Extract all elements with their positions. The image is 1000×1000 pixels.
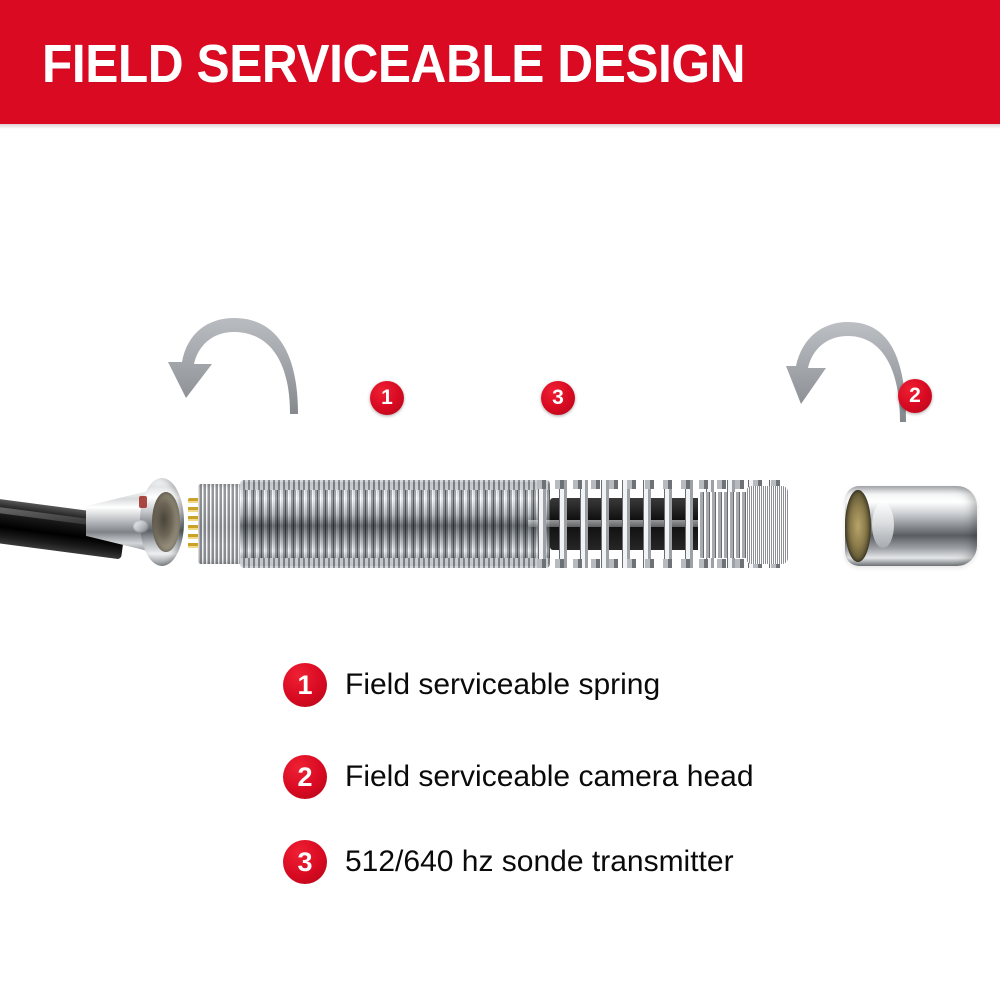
camera-head-lens bbox=[872, 502, 894, 548]
spring-knurled-nut bbox=[746, 486, 788, 564]
spring-connector bbox=[198, 484, 242, 564]
spring-coil-top-edge bbox=[240, 480, 550, 490]
photo-badge-2: 2 bbox=[898, 379, 932, 413]
legend: 1 Field serviceable spring 2 Field servi… bbox=[0, 634, 1000, 934]
legend-label-2: Field serviceable camera head bbox=[345, 760, 754, 794]
cable-alignment-mark bbox=[139, 496, 147, 508]
legend-badge-2: 2 bbox=[283, 755, 327, 799]
assembly-arrow-right-icon bbox=[786, 322, 906, 432]
photo-badge-1: 1 bbox=[370, 381, 404, 415]
cable-set-screw bbox=[133, 520, 149, 533]
legend-item-1: 1 Field serviceable spring bbox=[283, 663, 660, 707]
spring-open-coil-bottom bbox=[528, 559, 783, 568]
legend-badge-1: 1 bbox=[283, 663, 327, 707]
product-illustration: 1 3 2 bbox=[0, 124, 1000, 634]
page-title: FIELD SERVICEABLE DESIGN bbox=[42, 36, 745, 92]
spring-tight-coil bbox=[240, 482, 550, 566]
spring-open-coil-top bbox=[528, 480, 783, 489]
camera-head-contacts bbox=[845, 490, 871, 562]
photo-badge-3: 3 bbox=[541, 381, 575, 415]
legend-badge-3: 3 bbox=[283, 840, 327, 884]
spring-coil-bottom-edge bbox=[240, 558, 550, 568]
legend-label-3: 512/640 hz sonde transmitter bbox=[345, 845, 734, 879]
spring-threads bbox=[698, 492, 750, 558]
cable-connector-socket bbox=[152, 492, 180, 552]
infographic-page: FIELD SERVICEABLE DESIGN bbox=[0, 0, 1000, 1000]
header-banner: FIELD SERVICEABLE DESIGN bbox=[0, 0, 1000, 124]
legend-item-3: 3 512/640 hz sonde transmitter bbox=[283, 840, 734, 884]
legend-label-1: Field serviceable spring bbox=[345, 668, 660, 702]
legend-item-2: 2 Field serviceable camera head bbox=[283, 755, 754, 799]
assembly-arrow-left-icon bbox=[168, 318, 298, 428]
spring-assembly bbox=[198, 480, 798, 568]
